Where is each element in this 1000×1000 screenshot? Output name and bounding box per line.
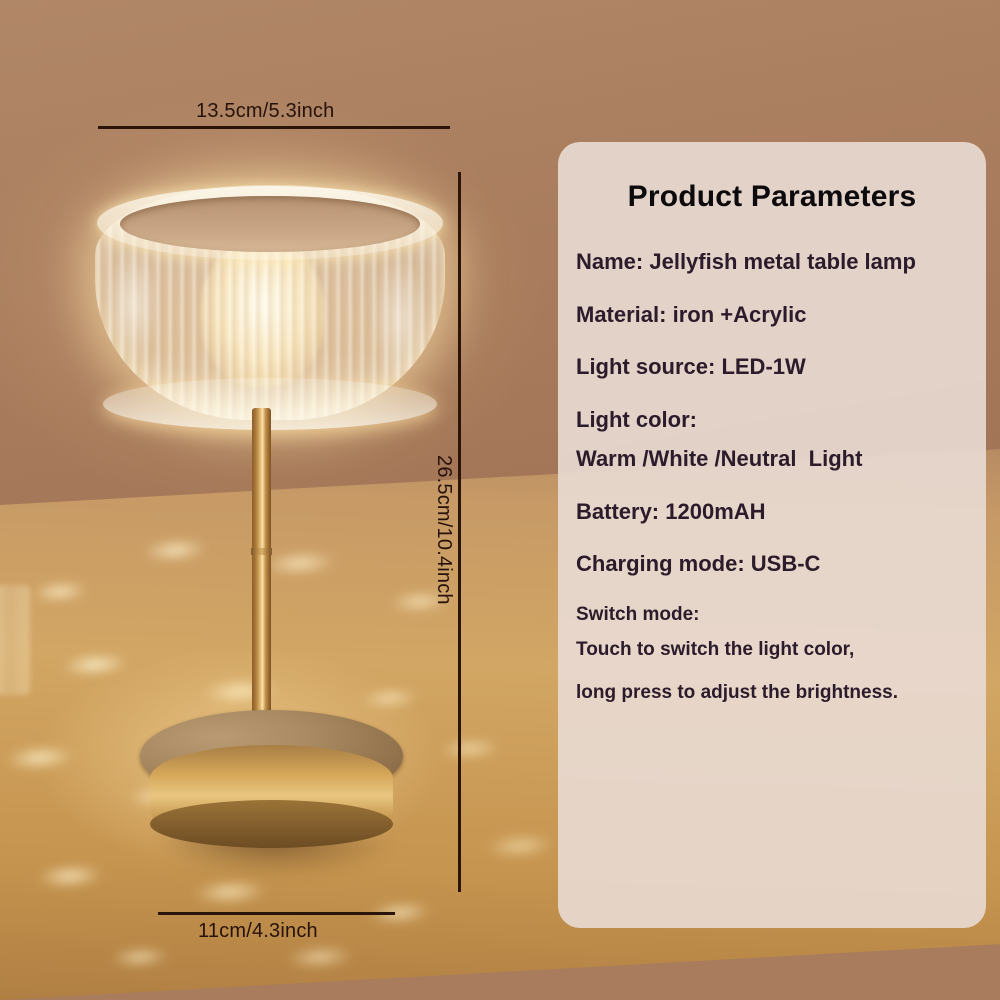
- dimension-line-right: [458, 172, 461, 892]
- panel-title: Product Parameters: [558, 180, 986, 214]
- dimension-label-shade-width: 13.5cm/5.3inch: [196, 100, 334, 123]
- dimension-line-bottom: [158, 912, 395, 915]
- table-lamp: [0, 0, 470, 1000]
- parameter-row: Charging mode: USB-C: [576, 550, 976, 578]
- parameter-row: Touch to switch the light color,: [576, 638, 976, 662]
- parameter-row: Light source: LED-1W: [576, 353, 976, 381]
- parameter-row: Switch mode:: [576, 603, 976, 627]
- dimension-line-top: [98, 126, 450, 129]
- parameter-row: Battery: 1200mAH: [576, 498, 976, 526]
- parameter-list: Name: Jellyfish metal table lampMaterial…: [558, 248, 986, 705]
- parameter-row: Name: Jellyfish metal table lamp: [576, 248, 976, 276]
- dimension-label-total-height: 26.5cm/10.4inch: [432, 455, 455, 605]
- shade-highlight-right: [371, 255, 429, 385]
- stem-joint: [251, 548, 272, 555]
- parameter-row: long press to adjust the brightness.: [576, 681, 976, 705]
- product-parameters-panel: Product Parameters Name: Jellyfish metal…: [558, 142, 986, 928]
- dimension-label-base-diameter: 11cm/4.3inch: [198, 920, 318, 943]
- parameter-row: Light color:: [576, 406, 976, 434]
- shade-top-opening: [120, 196, 420, 252]
- shade-highlight-left: [107, 245, 159, 365]
- product-photo-scene: 13.5cm/5.3inch 26.5cm/10.4inch 11cm/4.3i…: [0, 0, 1000, 1000]
- lamp-base-bottom: [150, 800, 393, 848]
- parameter-row: Warm /White /Neutral Light: [576, 445, 976, 473]
- parameter-row: Material: iron +Acrylic: [576, 301, 976, 329]
